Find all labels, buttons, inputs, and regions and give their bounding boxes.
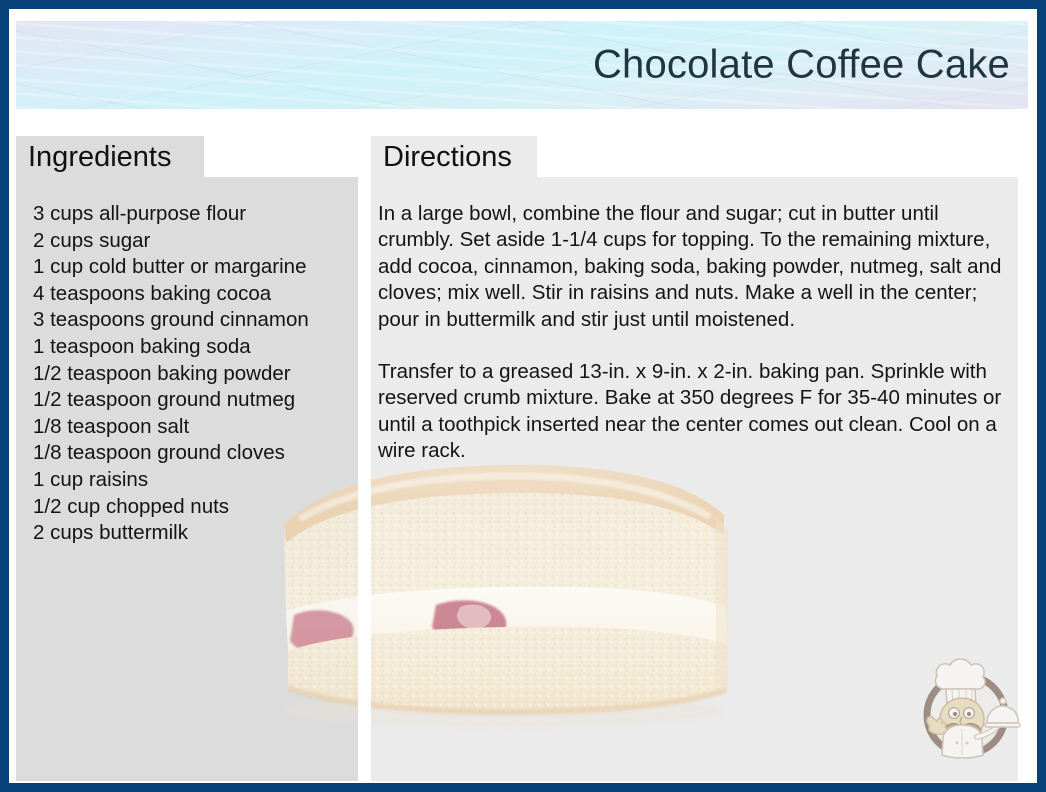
chef-mascot-logo xyxy=(907,651,1025,769)
recipe-card: Chocolate Coffee Cake Ingredients Direct… xyxy=(0,0,1046,792)
page-title: Chocolate Coffee Cake xyxy=(593,43,1010,88)
list-item: 1/8 teaspoon salt xyxy=(33,414,343,441)
tab-ingredients-label: Ingredients xyxy=(28,141,172,174)
list-item: 3 cups all-purpose flour xyxy=(33,201,343,228)
list-item: 1 cup cold butter or margarine xyxy=(33,254,343,281)
panel-divider xyxy=(358,177,371,781)
list-item: 1 teaspoon baking soda xyxy=(33,334,343,361)
tab-directions[interactable]: Directions xyxy=(371,136,537,178)
list-item: 2 cups sugar xyxy=(33,228,343,255)
list-item: 1/2 teaspoon baking powder xyxy=(33,361,343,388)
list-item: 1/2 teaspoon ground nutmeg xyxy=(33,387,343,414)
tab-directions-label: Directions xyxy=(383,141,512,174)
list-item: 3 teaspoons ground cinnamon xyxy=(33,307,343,334)
tab-ingredients[interactable]: Ingredients xyxy=(16,136,204,178)
directions-paragraph: In a large bowl, combine the flour and s… xyxy=(378,201,1015,333)
list-item: 1 cup raisins xyxy=(33,467,343,494)
list-item: 2 cups buttermilk xyxy=(33,520,343,547)
title-banner: Chocolate Coffee Cake xyxy=(16,21,1028,109)
ingredients-list: 3 cups all-purpose flour 2 cups sugar 1 … xyxy=(33,201,343,547)
directions-paragraph: Transfer to a greased 13-in. x 9-in. x 2… xyxy=(378,359,1015,465)
directions-body: In a large bowl, combine the flour and s… xyxy=(378,201,1015,491)
list-item: 1/2 cup chopped nuts xyxy=(33,494,343,521)
list-item: 1/8 teaspoon ground cloves xyxy=(33,440,343,467)
list-item: 4 teaspoons baking cocoa xyxy=(33,281,343,308)
card-inner: Chocolate Coffee Cake Ingredients Direct… xyxy=(9,9,1037,783)
